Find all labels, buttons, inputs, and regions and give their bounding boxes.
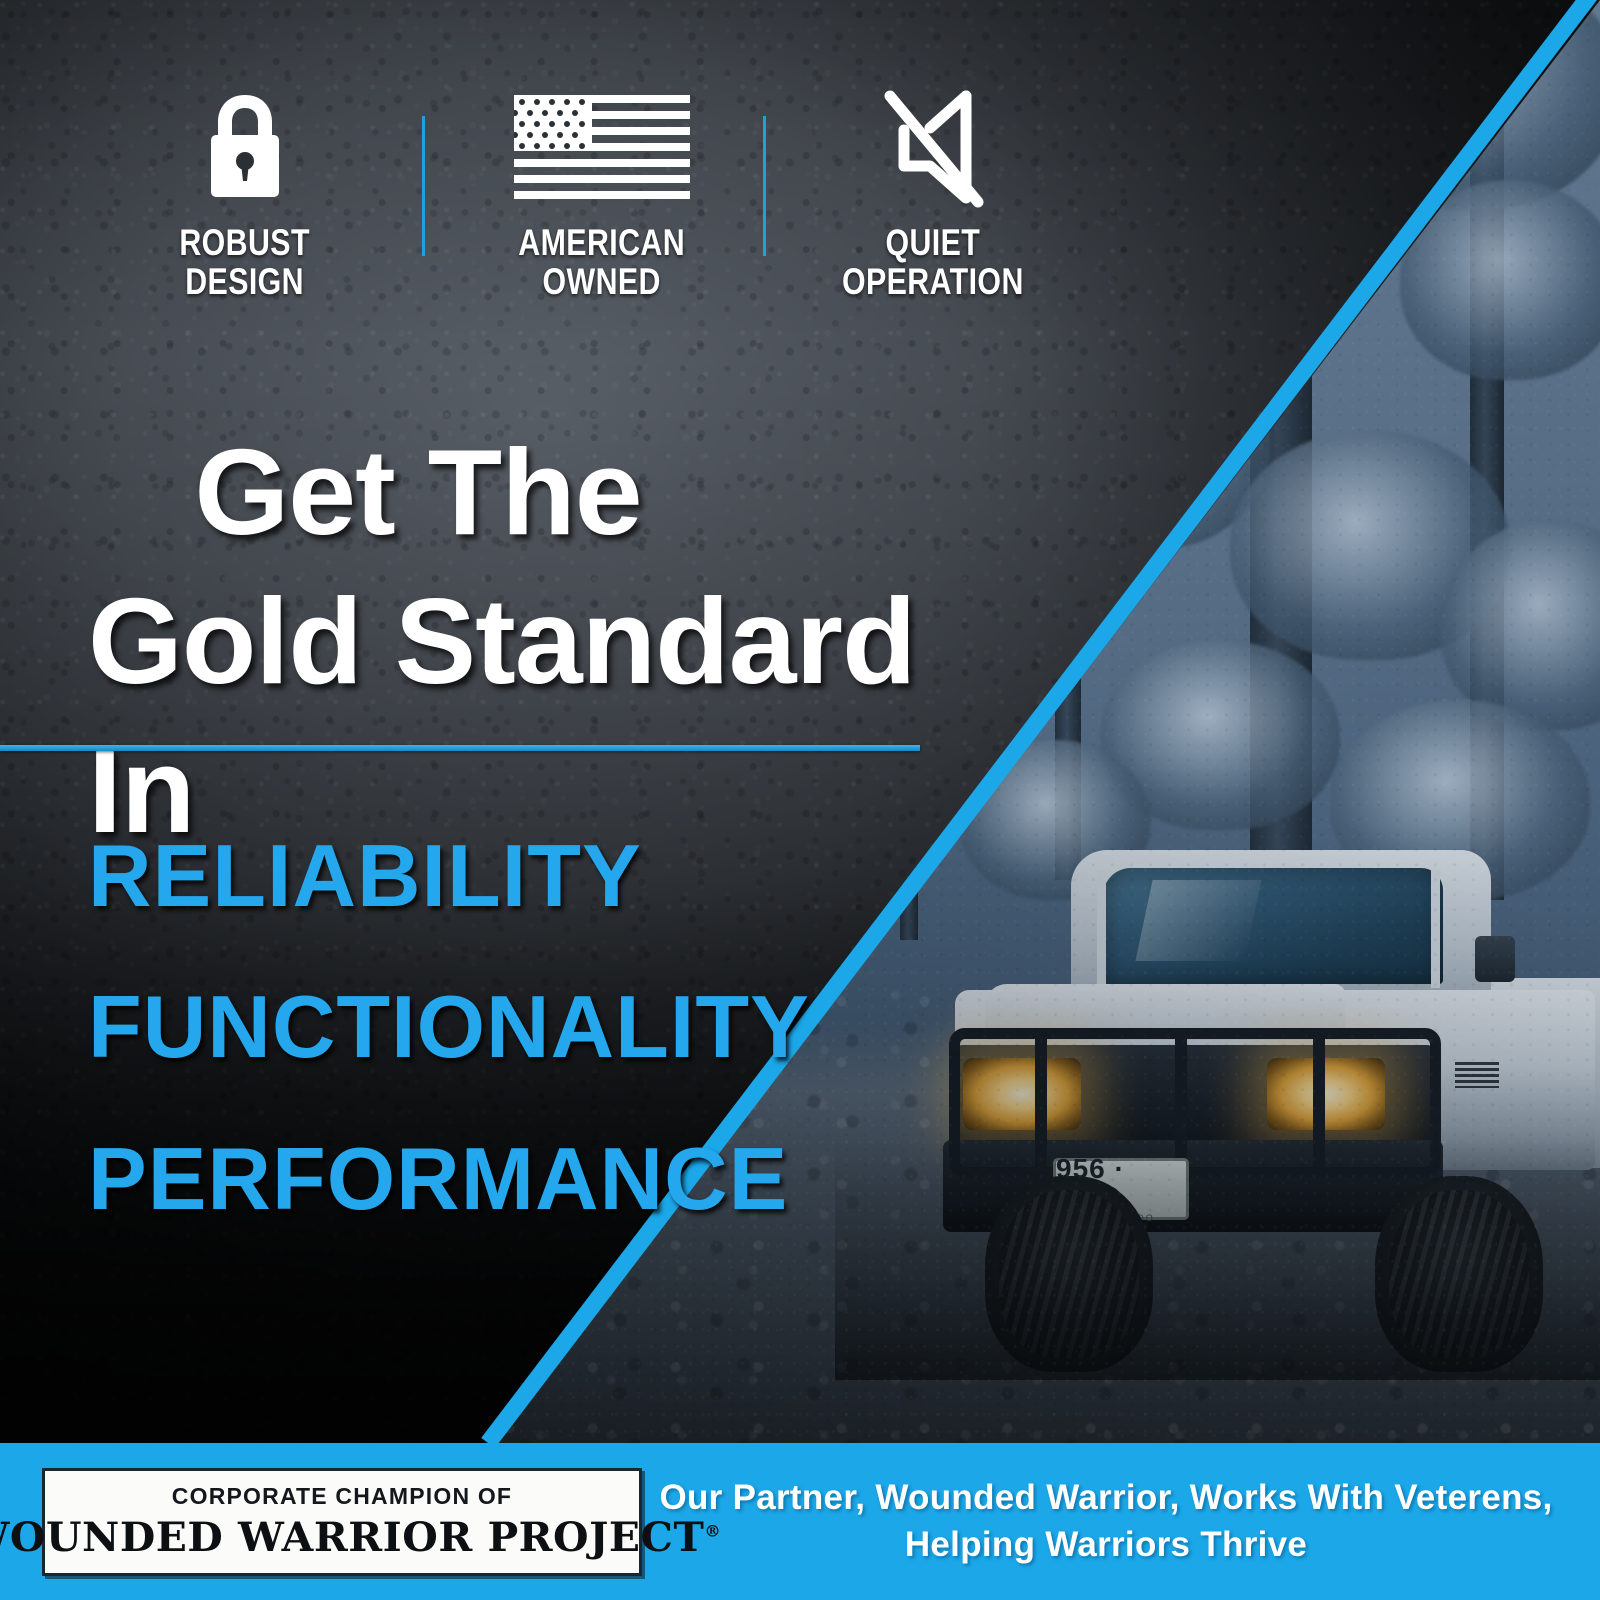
padlock-icon: [199, 88, 291, 206]
footer-tagline: Our Partner, Wounded Warrior, Works With…: [642, 1475, 1600, 1567]
feature-label: ROBUST DESIGN: [180, 224, 311, 302]
feature-robust-design: ROBUST DESIGN: [120, 88, 370, 302]
headline-line-1: Get The: [88, 418, 748, 567]
advertisement-banner: 956 · QEQ COLORADO ROBUST DESIGN: [0, 0, 1600, 1600]
headline-divider-rule: [0, 745, 920, 751]
badge-main-text: WOUNDED WARRIOR PROJECT: [0, 1514, 704, 1561]
american-flag-icon: [514, 88, 690, 206]
registered-trademark-icon: ®: [704, 1521, 721, 1540]
feature-divider-1: [422, 116, 425, 256]
feature-american-owned: AMERICAN OWNED: [477, 88, 727, 302]
page-title: Get The Gold Standard In: [88, 418, 988, 864]
keyword-list: RELIABILITY FUNCTIONALITY PERFORMANCE: [88, 800, 788, 1254]
footer-bar: CORPORATE CHAMPION OF WOUNDED WARRIOR PR…: [0, 1443, 1600, 1600]
feature-label: AMERICAN OWNED: [519, 224, 686, 302]
keyword-item: PERFORMANCE: [88, 1103, 788, 1254]
keyword-item: FUNCTIONALITY: [88, 951, 788, 1102]
feature-quiet-operation: QUIET OPERATION: [808, 88, 1058, 302]
badge-top-line: CORPORATE CHAMPION OF: [172, 1483, 512, 1510]
muted-speaker-icon: [874, 88, 992, 206]
wounded-warrior-project-badge: CORPORATE CHAMPION OF WOUNDED WARRIOR PR…: [42, 1468, 642, 1576]
badge-main-line: WOUNDED WARRIOR PROJECT®: [0, 1514, 721, 1561]
keyword-item: RELIABILITY: [88, 800, 788, 951]
feature-row: ROBUST DESIGN: [120, 88, 1190, 343]
feature-divider-2: [763, 116, 766, 256]
feature-label: QUIET OPERATION: [842, 224, 1024, 302]
